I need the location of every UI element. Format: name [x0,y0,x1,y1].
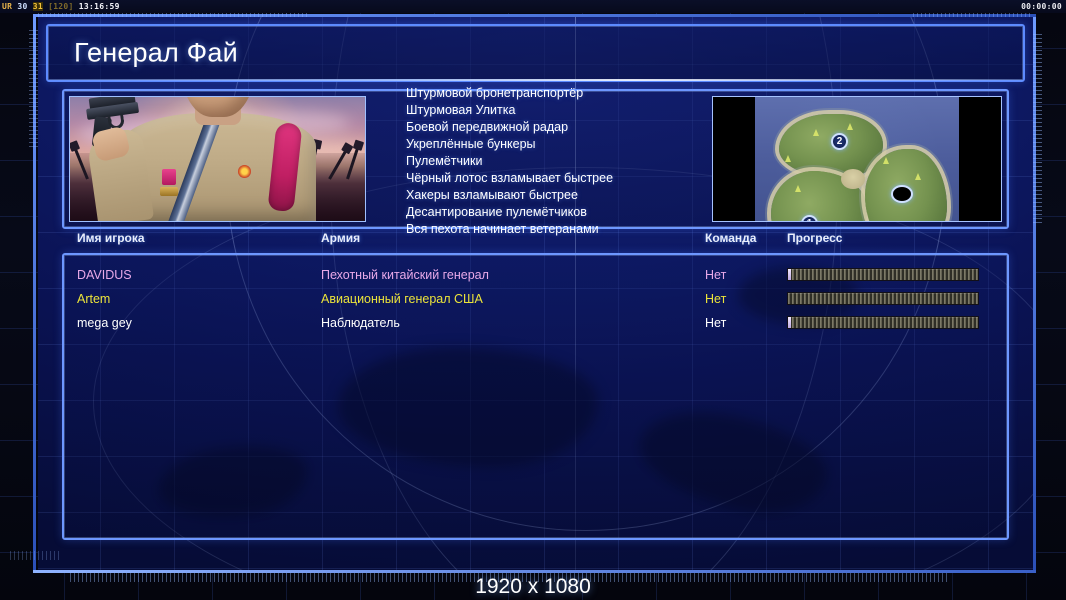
feature-item: Десантирование пулемётчиков [406,204,712,221]
match-timer: 00:00:00 [1021,0,1062,13]
player-team: Нет [705,311,726,335]
column-header-name: Имя игрока [77,231,145,245]
feature-item: Хакеры взламывают быстрее [406,187,712,204]
portrait-medal [162,169,176,185]
status-bar-left: UR 30 31 [120] 13:16:59 [2,0,120,13]
frame-left [33,17,36,570]
minimap-island [779,114,883,178]
player-progress-bar [787,268,979,281]
portrait-medal [238,165,251,178]
status-clock: 13:16:59 [79,2,120,11]
app-root: UR 30 31 [120] 13:16:59 00:00:00 Генерал… [0,0,1066,600]
player-army: Авиационный генерал США [321,287,483,311]
portrait-sash [166,114,221,222]
table-row[interactable]: DAVIDUS Пехотный китайский генерал Нет [64,263,1007,287]
player-rows: DAVIDUS Пехотный китайский генерал Нет A… [64,263,1007,335]
player-name: DAVIDUS [77,263,132,287]
feature-item: Чёрный лотос взламывает быстрее [406,170,712,187]
player-army: Наблюдатель [321,311,400,335]
general-features-list: Штурмовой бронетранспортёр Штурмовая Ули… [366,96,712,222]
player-army: Пехотный китайский генерал [321,263,489,287]
header-panel: Генерал Фай [46,24,1025,82]
player-name: mega gey [77,311,132,335]
portrait-medal [160,187,178,196]
feature-item: Боевой передвижной радар [406,119,712,136]
status-value-1: 30 [17,2,27,11]
feature-item: Укреплённые бункеры [406,136,712,153]
frame-top [33,14,1036,17]
feature-item: Штурмовая Улитка [406,102,712,119]
progress-lead-segment [788,317,791,328]
minimap-image: 1 2 [755,97,959,221]
minimap[interactable]: 1 2 [712,96,1002,222]
table-header-row: Имя игрока Армия Команда Прогресс [64,231,1007,253]
feature-item: Штурмовой бронетранспортёр [406,85,712,102]
general-portrait [69,96,366,222]
status-label: UR [2,2,12,11]
player-name: Artem [77,287,110,311]
player-team: Нет [705,287,726,311]
main-screen: Генерал Фай [38,17,1033,570]
status-value-2: 31 [33,2,43,11]
player-team: Нет [705,263,726,287]
table-row[interactable]: Artem Авиационный генерал США Нет [64,287,1007,311]
page-title: Генерал Фай [74,38,238,69]
frame-bottom [33,570,1036,573]
frame-right [1033,17,1036,570]
column-header-team: Команда [705,231,756,245]
feature-item: Пулемётчики [406,153,712,170]
minimap-start-position[interactable] [891,185,913,203]
status-bar: UR 30 31 [120] 13:16:59 00:00:00 [0,0,1066,13]
general-info-panel: Штурмовой бронетранспортёр Штурмовая Ули… [62,89,1009,229]
player-list-panel: Имя игрока Армия Команда Прогресс DAVIDU… [62,253,1009,540]
minimap-start-position[interactable]: 2 [831,133,848,150]
portrait-aiguillette [267,122,302,212]
resolution-label: 1920 x 1080 [0,575,1066,599]
column-header-progress: Прогресс [787,231,842,245]
progress-lead-segment [788,269,791,280]
column-header-army: Армия [321,231,360,245]
status-value-3: [120] [48,2,74,11]
player-progress-bar [787,292,979,305]
player-progress-bar [787,316,979,329]
minimap-center-isle [841,169,865,189]
table-row[interactable]: mega gey Наблюдатель Нет [64,311,1007,335]
